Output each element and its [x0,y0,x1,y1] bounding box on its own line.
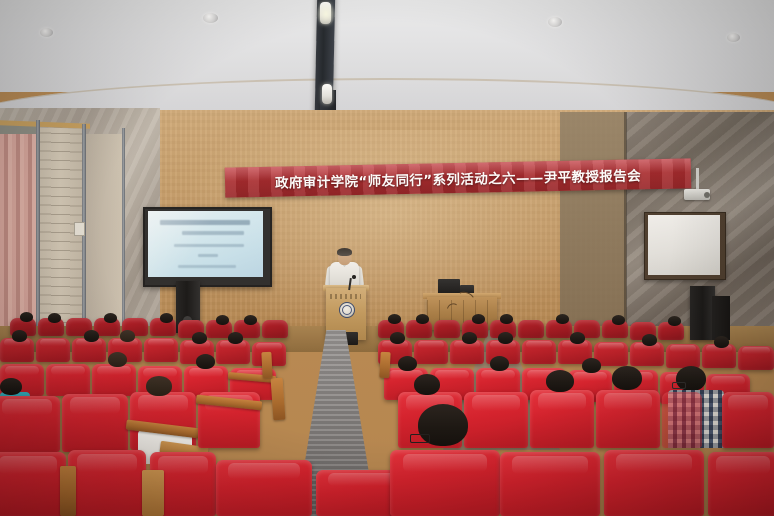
auditorium-seat [518,320,544,338]
audience-head [120,330,135,342]
track-spotlight-icon [322,84,332,104]
audience-head [84,330,99,342]
auditorium-seat [46,364,90,396]
seat-highlight [711,376,744,385]
auditorium-seat [0,452,66,516]
auditorium-seat [390,450,500,516]
seat-highlight [435,370,468,379]
seat-armrest [261,352,272,378]
downlight [40,28,53,37]
audience-head [556,314,569,324]
light-switch-icon[interactable] [74,222,85,236]
seat-writing-tablet [142,470,164,516]
seat-highlight [0,456,57,474]
seat-highlight [418,341,444,348]
audience-head [416,314,429,324]
seat-armrest [60,466,76,516]
audience-head [462,332,477,344]
seat-highlight [403,454,487,472]
seat-highlight [604,393,653,409]
audience-head [714,336,729,348]
projector-mount-pole [696,168,699,190]
audience-head [388,314,401,324]
seat-highlight [670,345,696,352]
seat-highlight [228,463,301,479]
audience-head [546,370,574,392]
spotlight-glow [316,2,336,26]
downlight [727,33,740,42]
seat-highlight [716,456,769,474]
seat-highlight [481,370,514,379]
audience-head [20,312,33,322]
auditorium-seat [92,364,136,396]
audience-head [12,330,27,342]
audience-head [612,366,642,390]
presenter-hair [337,248,352,256]
audience-head [642,334,657,346]
audience-head [160,313,173,323]
seat-highlight [472,395,521,411]
seat-highlight [97,366,130,375]
auditorium-seat [722,392,774,448]
auditorium-seat [144,338,178,362]
seat-highlight [598,343,624,350]
audience-head [196,354,215,369]
seat-highlight [742,347,769,354]
audience-head [48,313,61,323]
audience-head [612,315,625,325]
audience-head [668,316,681,326]
audience-head [414,374,440,395]
auditorium-seat [216,460,312,516]
auditorium-seat [0,396,60,452]
audience-head [146,376,172,396]
seat-highlight [51,366,84,375]
auditorium-photo: 政府审计学院“师友同行”系列活动之六——尹平教授报告会 [0,0,774,516]
audience-head [490,356,509,371]
seat-highlight [538,393,587,409]
seat-highlight [189,368,222,377]
seat-highlight [2,399,52,415]
audience-head [500,314,513,324]
audience-head [216,315,229,325]
auditorium-seat [666,344,700,368]
downlight [203,13,218,23]
audience-head [472,314,485,324]
pa-speaker-right-secondary [712,296,730,340]
seat-highlight [728,395,768,411]
auditorium-seat [68,450,146,516]
wall-seam [624,112,627,340]
auditorium-seat [530,390,594,448]
seat-highlight [5,366,38,375]
wall-mullion [36,120,40,334]
seat-highlight [512,456,588,474]
projection-screen-right [648,215,720,275]
auditorium-seat [522,340,556,364]
audience-head [244,315,257,325]
audience-head [398,356,417,371]
seat-armrest [271,378,286,421]
seat-highlight [573,372,606,381]
auditorium-seat [434,320,460,338]
left-wall-panel [86,134,124,334]
audience-head [390,332,405,344]
seat-highlight [77,454,136,472]
auditorium-seat [604,450,704,516]
audience-head [104,313,117,323]
auditorium-seat [262,320,288,338]
eyeglasses-icon [672,382,686,389]
projector-lens-icon [704,192,710,198]
university-seal-inner-ring [342,305,352,315]
seat-highlight [138,395,188,411]
auditorium-seat [738,346,774,370]
seat-highlight [70,397,120,413]
audience-head [108,352,127,367]
audience-head [570,332,585,344]
seat-highlight [616,454,692,472]
seat-highlight [148,339,174,346]
seat-highlight [158,456,208,474]
eyeglasses-icon [410,434,430,443]
auditorium-seat [662,392,702,448]
audience-head [582,358,601,373]
seat-highlight [526,341,552,348]
auditorium-seat [62,394,128,452]
downlight [548,17,562,27]
auditorium-seat [414,340,448,364]
projection-screen-glare [148,211,263,277]
window-curtain [0,131,38,332]
seat-highlight [256,343,282,350]
seat-highlight [40,339,66,346]
right-wall-section [560,112,630,340]
audience-head [228,332,243,344]
auditorium-seat [500,452,600,516]
auditorium-seat [36,338,70,362]
auditorium-seat [464,392,528,448]
seat-armrest [379,352,390,378]
auditorium-seat [596,390,660,448]
audience-head [0,378,22,395]
podium-inscription [330,294,361,299]
microphone-icon [352,275,356,279]
wall-mullion [122,128,125,334]
audience-head [192,332,207,344]
auditorium-seat [708,452,774,516]
audience-head [498,332,513,344]
